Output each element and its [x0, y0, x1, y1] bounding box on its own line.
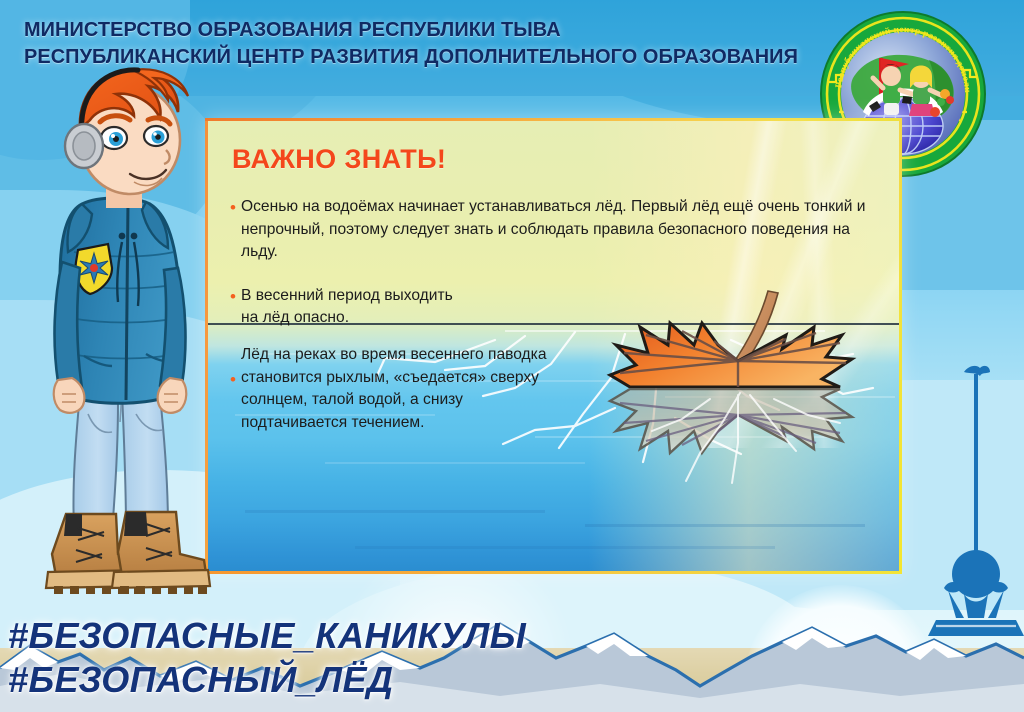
info-card: ВАЖНО ЗНАТЬ! • Осенью на водоёмах начина…	[205, 118, 902, 574]
card-border-bottom	[205, 571, 902, 574]
card-border-right	[899, 118, 902, 574]
bullet-list: • Осенью на водоёмах начинает устанавлив…	[225, 196, 895, 434]
card-border-top	[205, 118, 902, 121]
bullet-item: • Лёд на реках во время весеннего паводк…	[225, 344, 555, 434]
poster-root: МИНИСТЕРСТВО ОБРАЗОВАНИЯ РЕСПУБЛИКИ ТЫВА…	[0, 0, 1024, 712]
bullet-text-3: Лёд на реках во время весеннего паводка …	[241, 344, 555, 434]
bullet-text-1: Осенью на водоёмах начинает устанавливат…	[241, 196, 875, 264]
hashtag-line-2: #БЕЗОПАСНЫЙ_ЛЁД	[8, 658, 548, 702]
bullet-item: • Осенью на водоёмах начинает устанавлив…	[225, 196, 875, 264]
boy-character-illustration	[22, 62, 237, 607]
bullet-item: • В весенний период выходить на лёд опас…	[225, 285, 555, 330]
center-of-asia-monument-icon	[920, 336, 1024, 636]
bullet-text-2: В весенний период выходить на лёд опасно…	[241, 285, 453, 330]
card-title: ВАЖНО ЗНАТЬ!	[232, 144, 446, 175]
hashtag-line-1: #БЕЗОПАСНЫЕ_КАНИКУЛЫ	[8, 614, 548, 658]
header-line-1: МИНИСТЕРСТВО ОБРАЗОВАНИЯ РЕСПУБЛИКИ ТЫВА	[24, 16, 839, 43]
hashtags: #БЕЗОПАСНЫЕ_КАНИКУЛЫ #БЕЗОПАСНЫЙ_ЛЁД	[8, 614, 548, 702]
